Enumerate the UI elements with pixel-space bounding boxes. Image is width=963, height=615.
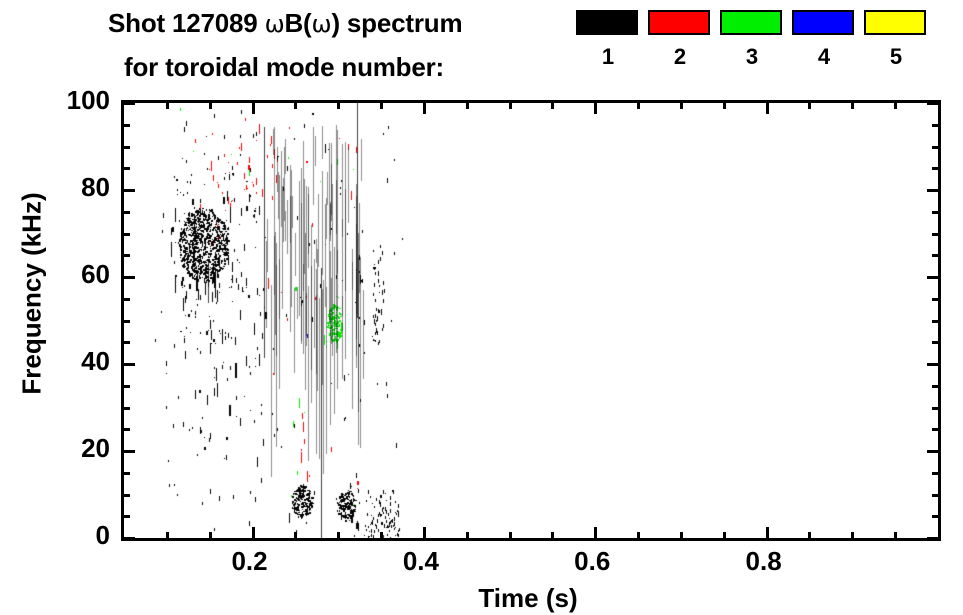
legend-item-mode-5: 5 xyxy=(864,10,928,68)
y-major-tick xyxy=(121,102,135,105)
x-minor-tick xyxy=(851,100,854,109)
title-shot-text: Shot 127089 xyxy=(108,8,265,38)
x-minor-tick xyxy=(209,532,212,541)
y-major-tick xyxy=(121,276,135,279)
y-axis-title: Frequency (kHz) xyxy=(17,114,48,474)
y-minor-tick xyxy=(932,124,941,127)
legend-label-mode-3: 3 xyxy=(720,46,784,68)
x-major-tick xyxy=(594,100,597,114)
y-minor-tick xyxy=(121,407,130,410)
x-minor-tick xyxy=(680,532,683,541)
y-major-tick xyxy=(927,537,941,540)
legend-swatch-mode-4 xyxy=(792,10,854,35)
x-major-tick xyxy=(594,527,597,541)
x-minor-tick xyxy=(851,532,854,541)
spectrogram-canvas xyxy=(124,103,938,538)
x-minor-tick xyxy=(380,532,383,541)
y-minor-tick xyxy=(932,515,941,518)
x-minor-tick xyxy=(166,100,169,109)
y-major-tick xyxy=(121,189,135,192)
x-minor-tick xyxy=(808,100,811,109)
x-major-tick xyxy=(423,527,426,541)
legend-label-mode-4: 4 xyxy=(792,46,856,68)
y-major-tick xyxy=(927,276,941,279)
y-tick-label: 100 xyxy=(67,87,110,113)
y-minor-tick xyxy=(932,385,941,388)
y-tick-label: 20 xyxy=(81,435,110,461)
legend: 12345 xyxy=(576,10,946,90)
title-b-text: B( xyxy=(284,8,311,38)
y-minor-tick xyxy=(121,233,130,236)
spectrogram-figure: Shot 127089 ωB(ω) spectrum for toroidal … xyxy=(0,0,963,615)
y-minor-tick xyxy=(121,472,130,475)
x-minor-tick xyxy=(637,532,640,541)
x-minor-tick xyxy=(166,532,169,541)
y-minor-tick xyxy=(121,124,130,127)
x-minor-tick xyxy=(808,532,811,541)
y-minor-tick xyxy=(932,341,941,344)
legend-label-mode-1: 1 xyxy=(576,46,640,68)
x-tick-label: 0.2 xyxy=(231,548,267,574)
y-minor-tick xyxy=(121,385,130,388)
x-major-tick xyxy=(252,527,255,541)
x-major-tick xyxy=(766,527,769,541)
y-minor-tick xyxy=(121,211,130,214)
y-major-tick xyxy=(927,363,941,366)
y-minor-tick xyxy=(932,146,941,149)
x-minor-tick xyxy=(337,100,340,109)
y-minor-tick xyxy=(932,211,941,214)
y-tick-label: 40 xyxy=(81,348,110,374)
y-minor-tick xyxy=(121,494,130,497)
x-minor-tick xyxy=(380,100,383,109)
y-minor-tick xyxy=(932,428,941,431)
y-minor-tick xyxy=(121,254,130,257)
legend-swatch-mode-3 xyxy=(720,10,782,35)
x-minor-tick xyxy=(637,100,640,109)
x-minor-tick xyxy=(209,100,212,109)
y-minor-tick xyxy=(121,298,130,301)
x-minor-tick xyxy=(723,100,726,109)
title-spectrum-text: ) spectrum xyxy=(331,8,462,38)
legend-item-mode-2: 2 xyxy=(648,10,712,68)
legend-item-mode-3: 3 xyxy=(720,10,784,68)
y-minor-tick xyxy=(121,167,130,170)
y-minor-tick xyxy=(932,494,941,497)
y-major-tick xyxy=(121,363,135,366)
legend-swatch-mode-5 xyxy=(864,10,926,35)
y-minor-tick xyxy=(121,146,130,149)
legend-label-mode-2: 2 xyxy=(648,46,712,68)
x-minor-tick xyxy=(680,100,683,109)
omega-symbol-1: ω xyxy=(265,10,285,38)
y-major-tick xyxy=(927,450,941,453)
x-minor-tick xyxy=(551,100,554,109)
y-tick-label: 0 xyxy=(96,522,110,548)
y-minor-tick xyxy=(932,320,941,323)
x-minor-tick xyxy=(551,532,554,541)
plot-area xyxy=(121,100,941,541)
y-minor-tick xyxy=(121,320,130,323)
omega-symbol-2: ω xyxy=(312,10,332,38)
x-minor-tick xyxy=(337,532,340,541)
x-minor-tick xyxy=(509,532,512,541)
y-major-tick xyxy=(121,537,135,540)
figure-title-line-1: Shot 127089 ωB(ω) spectrum xyxy=(108,8,462,39)
y-minor-tick xyxy=(932,233,941,236)
x-major-tick xyxy=(423,100,426,114)
y-major-tick xyxy=(927,189,941,192)
legend-swatch-mode-1 xyxy=(576,10,638,35)
x-minor-tick xyxy=(466,532,469,541)
x-minor-tick xyxy=(723,532,726,541)
y-major-tick xyxy=(121,450,135,453)
y-minor-tick xyxy=(932,254,941,257)
legend-item-mode-1: 1 xyxy=(576,10,640,68)
y-minor-tick xyxy=(121,515,130,518)
x-axis-tick-labels: 0.20.40.60.8 xyxy=(121,548,935,582)
y-minor-tick xyxy=(932,472,941,475)
x-tick-label: 0.8 xyxy=(746,548,782,574)
y-minor-tick xyxy=(121,341,130,344)
legend-label-mode-5: 5 xyxy=(864,46,928,68)
figure-title-line-2: for toroidal mode number: xyxy=(124,52,444,83)
y-tick-label: 60 xyxy=(81,261,110,287)
y-major-tick xyxy=(927,102,941,105)
y-minor-tick xyxy=(121,428,130,431)
y-minor-tick xyxy=(932,167,941,170)
legend-swatch-mode-2 xyxy=(648,10,710,35)
x-major-tick xyxy=(766,100,769,114)
x-tick-label: 0.4 xyxy=(403,548,439,574)
x-major-tick xyxy=(252,100,255,114)
x-minor-tick xyxy=(466,100,469,109)
x-tick-label: 0.6 xyxy=(574,548,610,574)
y-minor-tick xyxy=(932,298,941,301)
x-minor-tick xyxy=(294,532,297,541)
x-axis-title: Time (s) xyxy=(121,583,935,614)
y-minor-tick xyxy=(932,407,941,410)
x-minor-tick xyxy=(509,100,512,109)
x-minor-tick xyxy=(894,100,897,109)
y-tick-label: 80 xyxy=(81,174,110,200)
x-minor-tick xyxy=(894,532,897,541)
x-minor-tick xyxy=(294,100,297,109)
legend-item-mode-4: 4 xyxy=(792,10,856,68)
